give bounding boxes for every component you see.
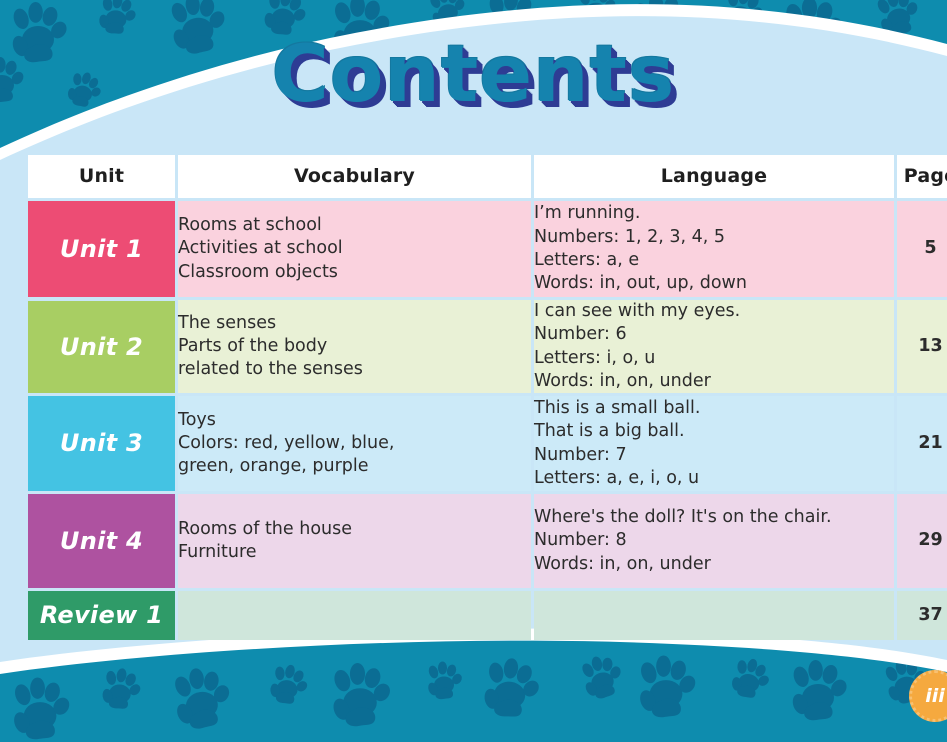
language-lines: I can see with my eyes. Number: 6 Letter…: [534, 300, 894, 393]
language-cell: Where's the doll? It's on the chair. Num…: [534, 494, 894, 588]
contents-table: Unit Vocabulary Language Page Unit 1 Roo…: [25, 152, 947, 643]
vocabulary-cell: Rooms of the house Furniture: [178, 494, 531, 588]
page-cell: 37: [897, 591, 947, 640]
language-line: I can see with my eyes.: [534, 300, 894, 323]
table-row: Review 1 37: [28, 591, 947, 640]
language-line: Letters: i, o, u: [534, 347, 894, 370]
unit-cell: Unit 2: [28, 300, 175, 393]
vocabulary-line: Classroom objects: [178, 261, 531, 284]
language-lines: This is a small ball. That is a big ball…: [534, 397, 894, 490]
language-line: Where's the doll? It's on the chair.: [534, 506, 894, 529]
page-title: Contents: [272, 36, 676, 114]
language-line: Words: in, out, up, down: [534, 272, 894, 295]
table-row: Unit 4 Rooms of the house Furniture Wher…: [28, 494, 947, 588]
page-cell: 13: [897, 300, 947, 393]
language-line: That is a big ball.: [534, 420, 894, 443]
unit-badge[interactable]: Unit 3: [28, 396, 175, 491]
language-line: Number: 7: [534, 444, 894, 467]
vocabulary-cell: Toys Colors: red, yellow, blue, green, o…: [178, 396, 531, 491]
column-header-language: Language: [534, 155, 894, 198]
page-cell: 5: [897, 201, 947, 297]
page-number-badge: iii: [909, 670, 947, 722]
vocabulary-line: Activities at school: [178, 237, 531, 260]
vocabulary-lines: Toys Colors: red, yellow, blue, green, o…: [178, 409, 531, 479]
column-header-unit: Unit: [28, 155, 175, 198]
language-cell: This is a small ball. That is a big ball…: [534, 396, 894, 491]
unit-badge[interactable]: Unit 1: [28, 201, 175, 297]
language-line: Number: 6: [534, 323, 894, 346]
table-row: Unit 3 Toys Colors: red, yellow, blue, g…: [28, 396, 947, 491]
contents-page: Contents Unit Vocabulary Language Page U…: [0, 0, 947, 742]
vocabulary-line: Colors: red, yellow, blue,: [178, 432, 531, 455]
page-cell: 29: [897, 494, 947, 588]
language-cell: [534, 591, 894, 640]
table-row: Unit 2 The senses Parts of the body rela…: [28, 300, 947, 393]
unit-cell: Unit 4: [28, 494, 175, 588]
unit-badge[interactable]: Unit 4: [28, 494, 175, 588]
unit-cell: Unit 3: [28, 396, 175, 491]
vocabulary-line: Rooms of the house: [178, 518, 531, 541]
language-lines: I’m running. Numbers: 1, 2, 3, 4, 5 Lett…: [534, 202, 894, 295]
vocabulary-cell: The senses Parts of the body related to …: [178, 300, 531, 393]
vocabulary-line: green, orange, purple: [178, 455, 531, 478]
page-cell: 21: [897, 396, 947, 491]
table-header-row: Unit Vocabulary Language Page: [28, 155, 947, 198]
language-line: I’m running.: [534, 202, 894, 225]
table-row: Unit 1 Rooms at school Activities at sch…: [28, 201, 947, 297]
column-header-page: Page: [897, 155, 947, 198]
unit-badge[interactable]: Review 1: [28, 591, 175, 640]
vocabulary-line: Toys: [178, 409, 531, 432]
language-line: Words: in, on, under: [534, 553, 894, 576]
vocabulary-cell: Rooms at school Activities at school Cla…: [178, 201, 531, 297]
unit-cell: Review 1: [28, 591, 175, 640]
vocabulary-lines: Rooms at school Activities at school Cla…: [178, 214, 531, 284]
language-cell: I’m running. Numbers: 1, 2, 3, 4, 5 Lett…: [534, 201, 894, 297]
language-line: This is a small ball.: [534, 397, 894, 420]
unit-badge[interactable]: Unit 2: [28, 301, 175, 393]
vocabulary-line: Furniture: [178, 541, 531, 564]
vocabulary-cell: [178, 591, 531, 640]
vocabulary-line: The senses: [178, 312, 531, 335]
column-header-vocabulary: Vocabulary: [178, 155, 531, 198]
page-title-wrapper: Contents: [0, 36, 947, 114]
language-line: Numbers: 1, 2, 3, 4, 5: [534, 226, 894, 249]
language-line: Letters: a, e, i, o, u: [534, 467, 894, 490]
vocabulary-line: Parts of the body: [178, 335, 531, 358]
language-cell: I can see with my eyes. Number: 6 Letter…: [534, 300, 894, 393]
vocabulary-lines: The senses Parts of the body related to …: [178, 312, 531, 382]
language-line: Number: 8: [534, 529, 894, 552]
vocabulary-lines: Rooms of the house Furniture: [178, 518, 531, 565]
language-line: Letters: a, e: [534, 249, 894, 272]
language-lines: Where's the doll? It's on the chair. Num…: [534, 506, 894, 576]
vocabulary-line: related to the senses: [178, 358, 531, 381]
unit-cell: Unit 1: [28, 201, 175, 297]
language-line: Words: in, on, under: [534, 370, 894, 393]
vocabulary-line: Rooms at school: [178, 214, 531, 237]
